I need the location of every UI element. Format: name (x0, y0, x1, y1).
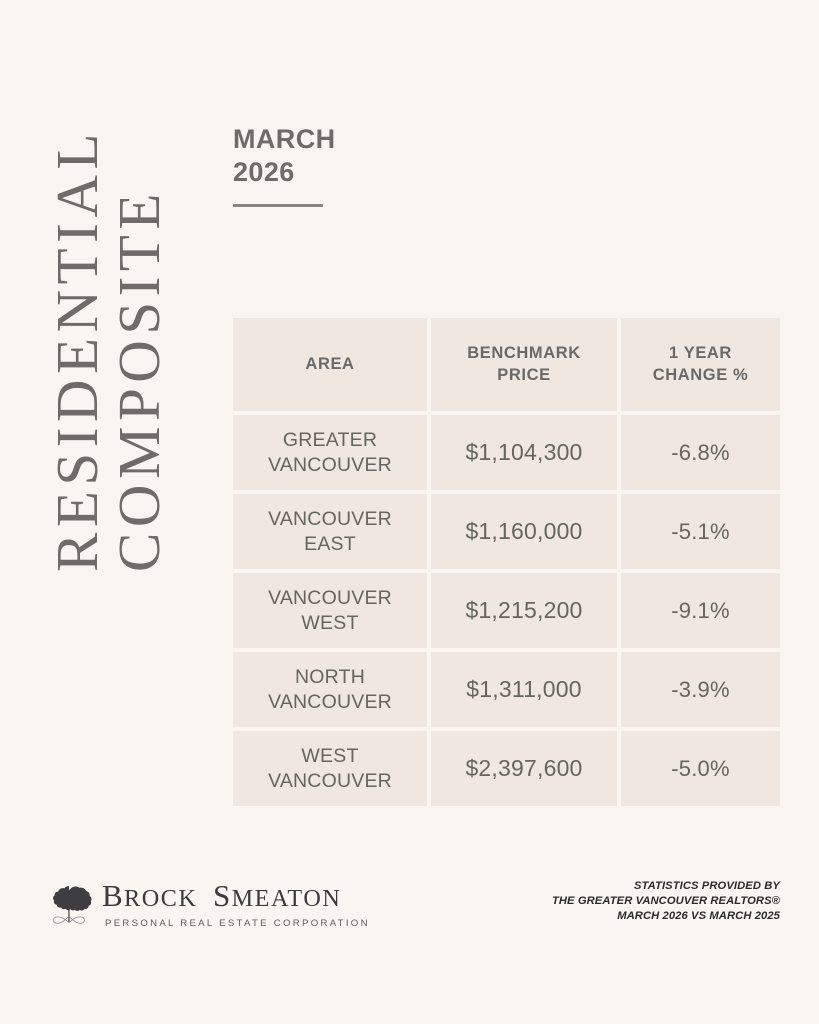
table-header-area: AREA (233, 318, 427, 411)
attribution-line-2: THE GREATER VANCOUVER REALTORS® (552, 894, 780, 909)
vertical-title-line-2: COMPOSITE (109, 188, 169, 572)
tree-icon (42, 878, 96, 936)
report-period-heading: MARCH 2026 (233, 123, 553, 207)
table-cell-one-year-change: -9.1% (621, 573, 780, 648)
table-header-benchmark-price-line1: BENCHMARK (467, 344, 581, 362)
area-line1: NORTH (295, 666, 365, 688)
table-cell-area: WEST VANCOUVER (233, 731, 427, 806)
one-year-change-value: -3.9% (671, 677, 729, 703)
table-cell-area-text: NORTH VANCOUVER (268, 665, 392, 714)
table-header-change-line1: 1 YEAR (669, 344, 732, 362)
table-cell-one-year-change: -5.0% (621, 731, 780, 806)
table-header-benchmark-price-label: BENCHMARK PRICE (467, 343, 581, 386)
area-line1: GREATER (283, 429, 377, 451)
table-cell-benchmark-price: $2,397,600 (431, 731, 617, 806)
benchmark-price-value: $1,215,200 (465, 597, 582, 624)
report-year: 2026 (233, 156, 553, 189)
table-cell-area: VANCOUVER EAST (233, 494, 427, 569)
vertical-title-line-1: RESIDENTIAL (46, 128, 106, 572)
area-line1: VANCOUVER (268, 508, 392, 530)
area-line2: EAST (304, 533, 356, 555)
table-cell-one-year-change: -5.1% (621, 494, 780, 569)
area-line2: VANCOUVER (268, 454, 392, 476)
table-cell-one-year-change: -3.9% (621, 652, 780, 727)
table-cell-area: NORTH VANCOUVER (233, 652, 427, 727)
statistics-attribution: STATISTICS PROVIDED BY THE GREATER VANCO… (552, 879, 780, 924)
benchmark-price-value: $1,160,000 (465, 518, 582, 545)
heading-underline-rule (233, 204, 323, 207)
table-cell-area-text: GREATER VANCOUVER (268, 428, 392, 477)
table-row: VANCOUVER WEST $1,215,200 -9.1% (233, 573, 780, 648)
table-header-area-label: AREA (305, 354, 354, 375)
table-row: NORTH VANCOUVER $1,311,000 -3.9% (233, 652, 780, 727)
area-line2: VANCOUVER (268, 691, 392, 713)
table-cell-area: GREATER VANCOUVER (233, 415, 427, 490)
one-year-change-value: -5.0% (671, 756, 729, 782)
benchmark-price-value: $1,311,000 (466, 676, 581, 703)
table-header-benchmark-price-line2: PRICE (497, 366, 550, 384)
one-year-change-value: -6.8% (671, 440, 729, 466)
table-header-one-year-change: 1 YEAR CHANGE % (621, 318, 780, 411)
table-header-benchmark-price: BENCHMARK PRICE (431, 318, 617, 411)
table-cell-area: VANCOUVER WEST (233, 573, 427, 648)
table-header-one-year-change-label: 1 YEAR CHANGE % (653, 343, 749, 386)
report-month: MARCH (233, 123, 553, 156)
table-header-change-line2: CHANGE % (653, 366, 749, 384)
table-row: GREATER VANCOUVER $1,104,300 -6.8% (233, 415, 780, 490)
table-row: WEST VANCOUVER $2,397,600 -5.0% (233, 731, 780, 806)
brand-name: BROCK SMEATON (102, 880, 370, 913)
table-cell-benchmark-price: $1,104,300 (431, 415, 617, 490)
area-line1: VANCOUVER (268, 587, 392, 609)
area-line2: WEST (301, 612, 358, 634)
brand-logo: BROCK SMEATON PERSONAL REAL ESTATE CORPO… (42, 876, 370, 936)
table-cell-area-text: VANCOUVER WEST (268, 586, 392, 635)
table-cell-area-text: VANCOUVER EAST (268, 507, 392, 556)
benchmark-price-table: AREA BENCHMARK PRICE 1 YEAR CHANGE % GRE… (233, 318, 780, 806)
area-line2: VANCOUVER (268, 770, 392, 792)
brand-tagline: PERSONAL REAL ESTATE CORPORATION (105, 918, 370, 929)
table-cell-benchmark-price: $1,160,000 (431, 494, 617, 569)
table-cell-area-text: WEST VANCOUVER (268, 744, 392, 793)
one-year-change-value: -9.1% (671, 598, 729, 624)
attribution-line-1: STATISTICS PROVIDED BY (552, 879, 780, 894)
one-year-change-value: -5.1% (671, 519, 729, 545)
table-header-row: AREA BENCHMARK PRICE 1 YEAR CHANGE % (233, 318, 780, 411)
benchmark-price-value: $2,397,600 (465, 755, 582, 782)
table-cell-benchmark-price: $1,311,000 (431, 652, 617, 727)
table-cell-one-year-change: -6.8% (621, 415, 780, 490)
benchmark-price-value: $1,104,300 (465, 439, 582, 466)
vertical-poster-title: RESIDENTIAL COMPOSITE (0, 0, 215, 700)
table-cell-benchmark-price: $1,215,200 (431, 573, 617, 648)
attribution-line-3: MARCH 2026 VS MARCH 2025 (552, 909, 780, 924)
table-row: VANCOUVER EAST $1,160,000 -5.1% (233, 494, 780, 569)
area-line1: WEST (301, 745, 358, 767)
